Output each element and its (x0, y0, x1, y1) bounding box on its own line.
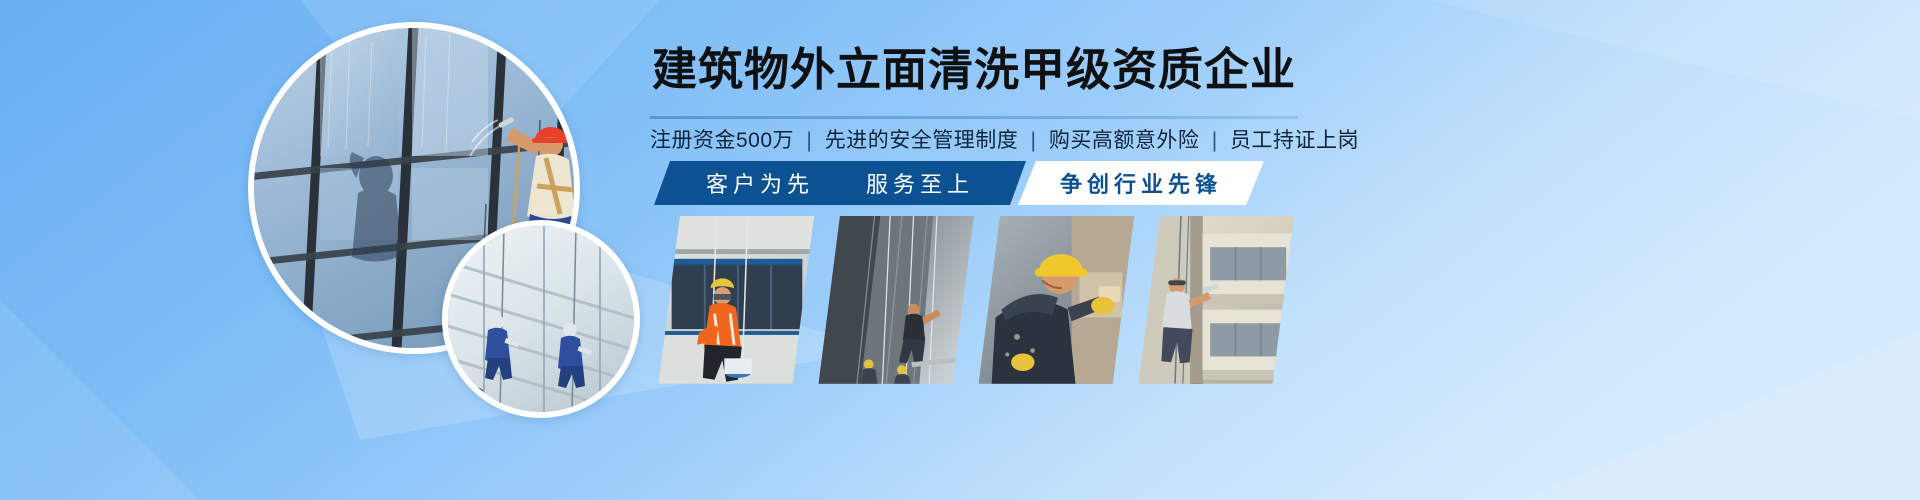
slogan-industry-pioneer: 争创行业先锋 (1060, 167, 1222, 199)
feature-item-1: 注册资金500万 (650, 129, 794, 152)
slogan-bar-blue-segment: 客户为先 服务至上 (654, 161, 1026, 205)
triangle-slim-right (1430, 0, 1920, 120)
feature-separator-2: | (1025, 129, 1043, 152)
feature-item-4: 员工持证上岗 (1230, 129, 1359, 152)
highrise-wall-illustration (818, 216, 974, 384)
worker-plastering-illustration (978, 216, 1134, 384)
strip-photo-highrise-wall (818, 216, 974, 388)
strip-photo-worker-plastering (978, 216, 1134, 388)
content-column: 建筑物外立面清洗甲级资质企业 注册资金500万 | 先进的安全管理制度 | 购买… (650, 0, 1300, 500)
slogan-customer-first: 客户为先 (706, 167, 814, 199)
title-divider (650, 116, 1298, 119)
feature-separator-1: | (800, 129, 818, 152)
feature-separator-3: | (1206, 129, 1224, 152)
feature-item-2: 先进的安全管理制度 (825, 129, 1019, 152)
slogan-bar-white-segment: 争创行业先锋 (1018, 161, 1264, 205)
photo-strip (658, 216, 1294, 388)
feature-item-3: 购买高额意外险 (1049, 129, 1200, 152)
banner-root: 建筑物外立面清洗甲级资质企业 注册资金500万 | 先进的安全管理制度 | 购买… (0, 0, 1920, 500)
rope-access-worker-illustration (658, 216, 814, 384)
strip-photo-balcony-repair (1138, 216, 1294, 388)
facade-workers-illustration (448, 226, 634, 412)
triangle-bottom-right (1520, 330, 1920, 500)
slogan-bar: 客户为先 服务至上 争创行业先锋 (654, 161, 1284, 205)
slogan-service-supreme: 服务至上 (866, 167, 974, 199)
page-title: 建筑物外立面清洗甲级资质企业 (650, 46, 1298, 93)
circle-photo-facade-workers (442, 220, 640, 418)
triangle-bottom-left (0, 300, 200, 500)
feature-list: 注册资金500万 | 先进的安全管理制度 | 购买高额意外险 | 员工持证上岗 (650, 124, 1298, 154)
strip-photo-rope-access-worker (658, 216, 814, 388)
balcony-repair-illustration (1138, 216, 1294, 384)
